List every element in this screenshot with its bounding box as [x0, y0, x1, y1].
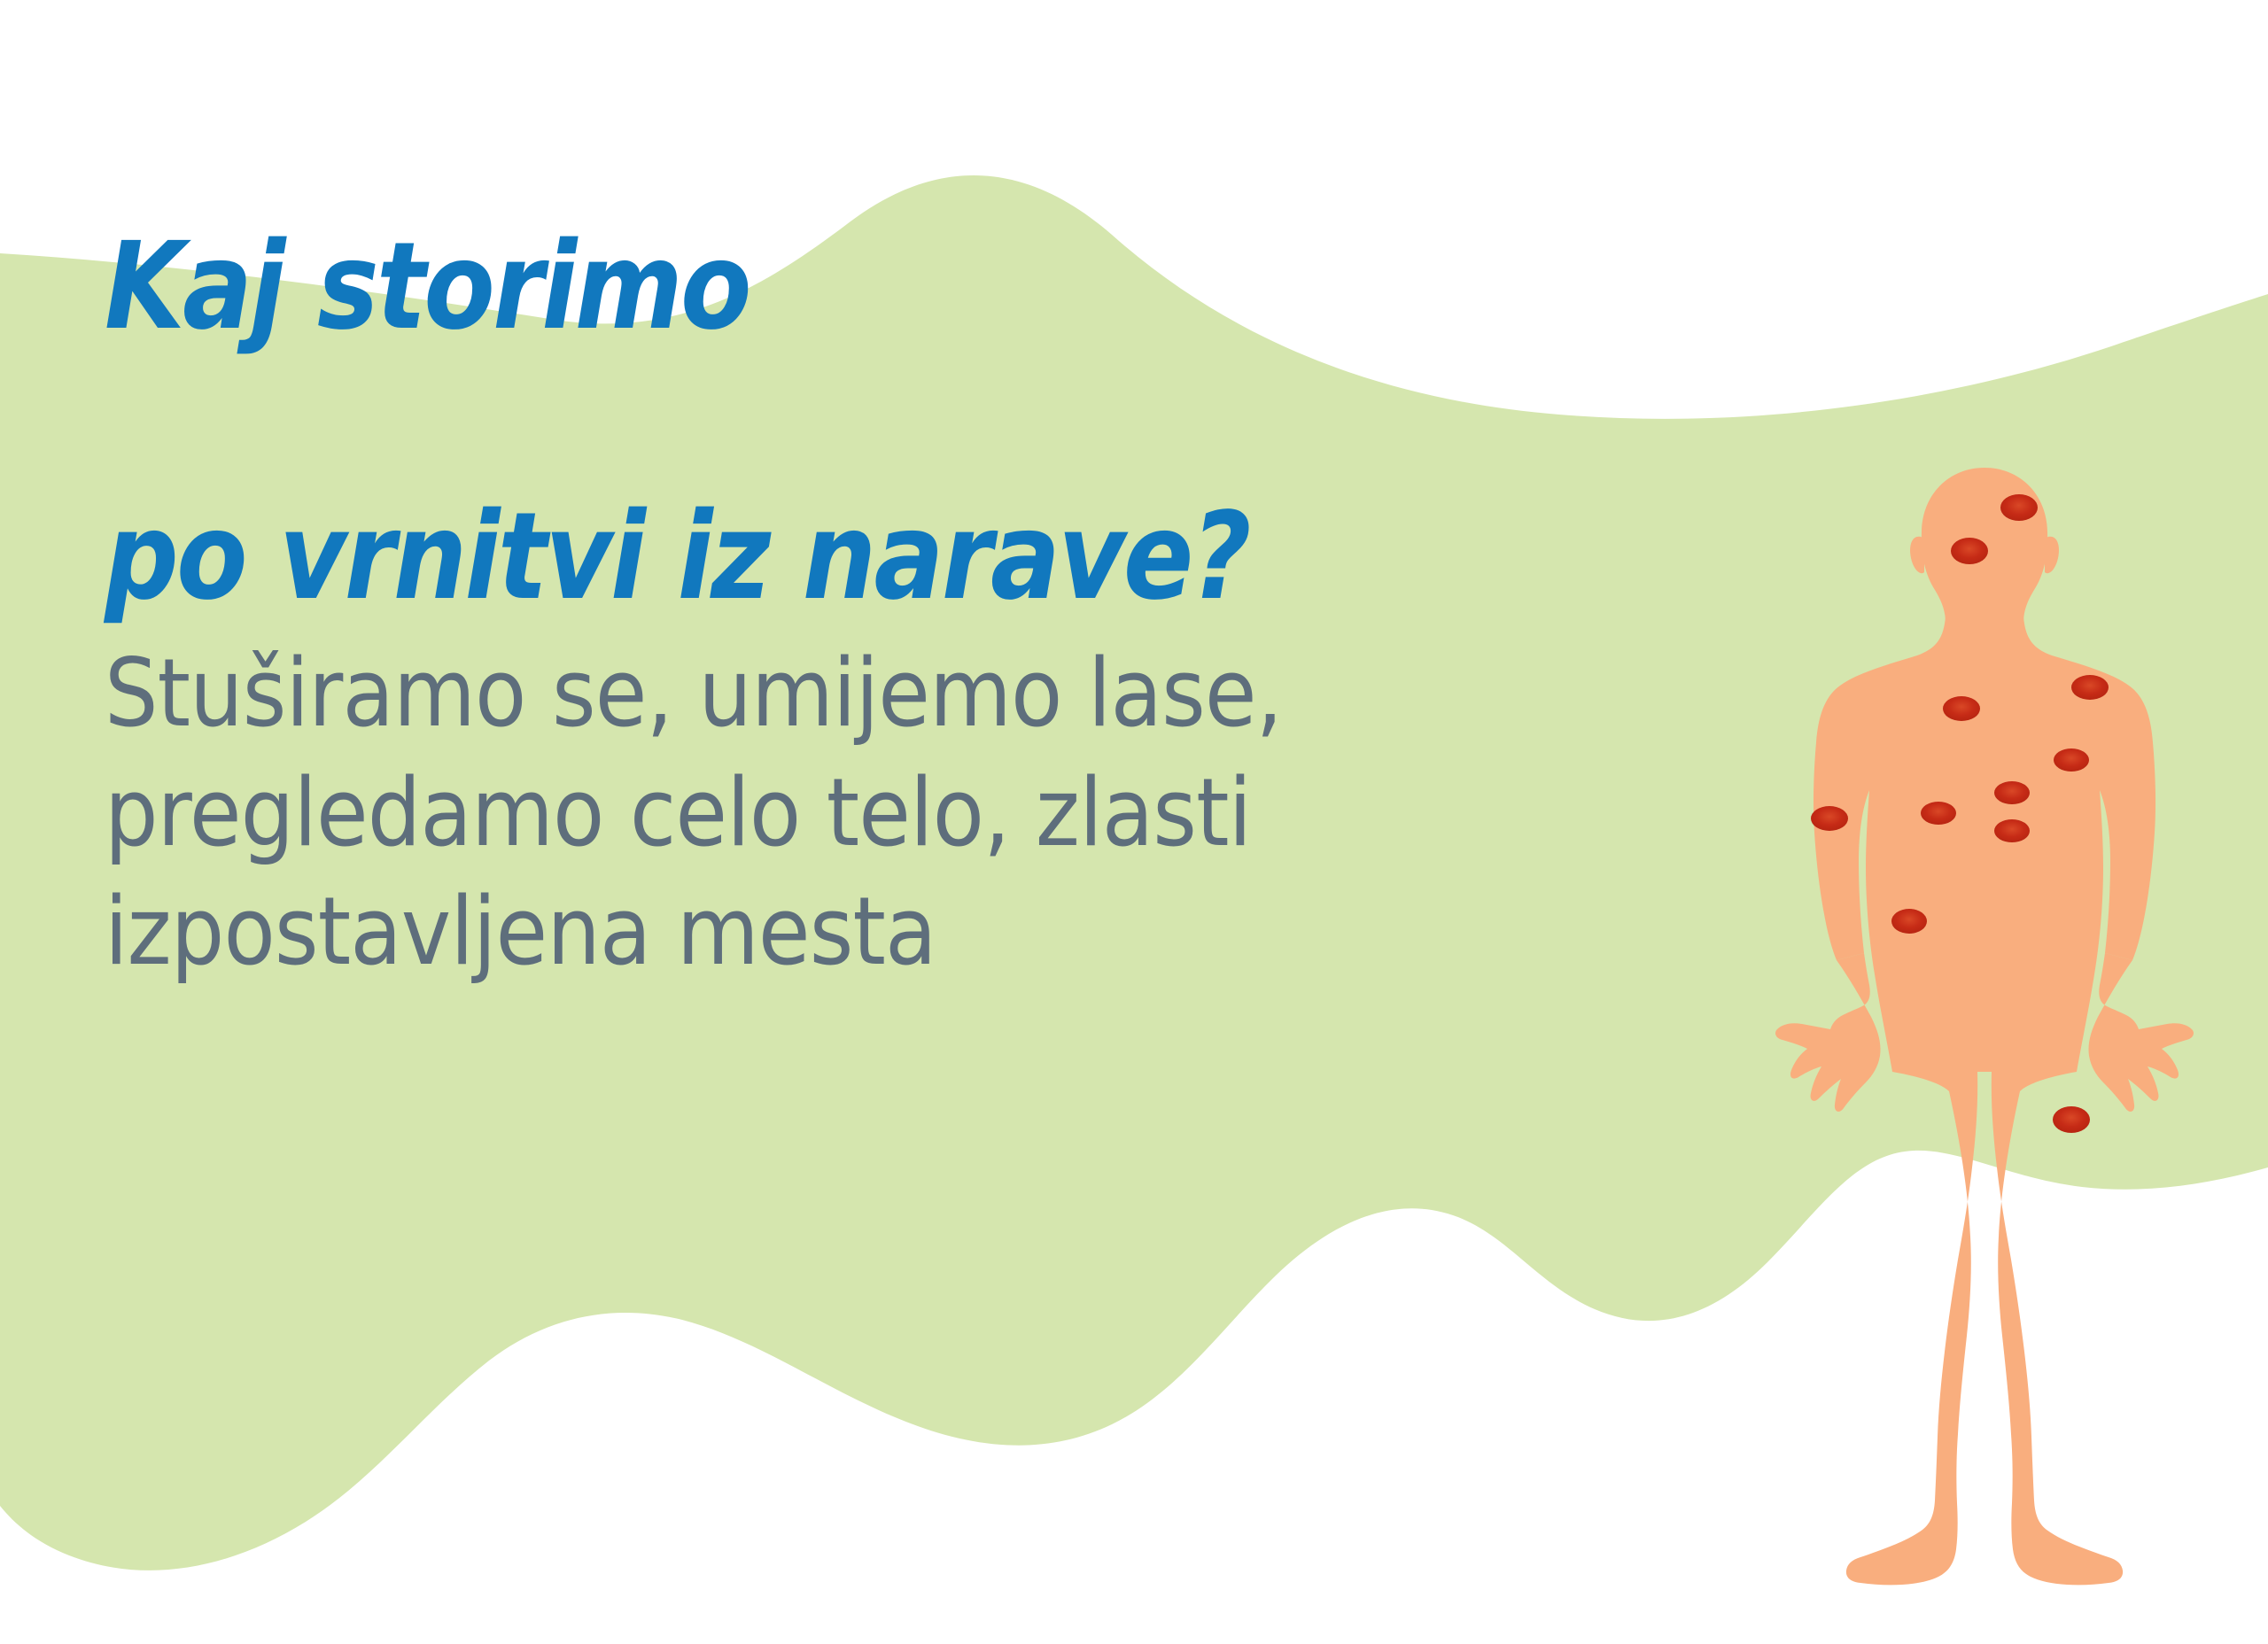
bite-mark-head-scalp — [2000, 494, 2038, 521]
bite-mark-waist-left — [2054, 748, 2089, 772]
bite-mark-navel — [1994, 781, 2030, 804]
body-line-3: izpostavljena mesta — [105, 872, 1524, 992]
bite-mark-left-foot — [2053, 1106, 2090, 1133]
human-body-illustration — [1736, 461, 2233, 1612]
headline-line-1: Kaj storimo — [105, 220, 1476, 354]
body-line-2: pregledamo celo telo, zlasti — [105, 754, 1524, 873]
bite-mark-groin — [1994, 819, 2030, 842]
bite-mark-right-hand-palm — [1811, 806, 1848, 831]
body-line-1: Stuširamo se, umijemo lase, — [105, 634, 1524, 754]
slide-canvas: Kaj storimo po vrnitvi iz narave? Stušir… — [0, 0, 2268, 1644]
bite-mark-knee-right — [1891, 909, 1927, 934]
headline-line-2: po vrnitvi iz narave? — [105, 490, 1476, 624]
bite-mark-chest-right — [1943, 696, 1980, 721]
bite-mark-ear-neck — [1951, 538, 1988, 564]
bite-mark-left-armpit — [2071, 675, 2109, 700]
bite-mark-hip-right — [1921, 802, 1956, 825]
text-column: Kaj storimo po vrnitvi iz narave? Stušir… — [105, 85, 1699, 760]
body-paragraph: Stuširamo se, umijemo lase, pregledamo c… — [105, 634, 1524, 992]
body-silhouette — [1775, 468, 2194, 1585]
